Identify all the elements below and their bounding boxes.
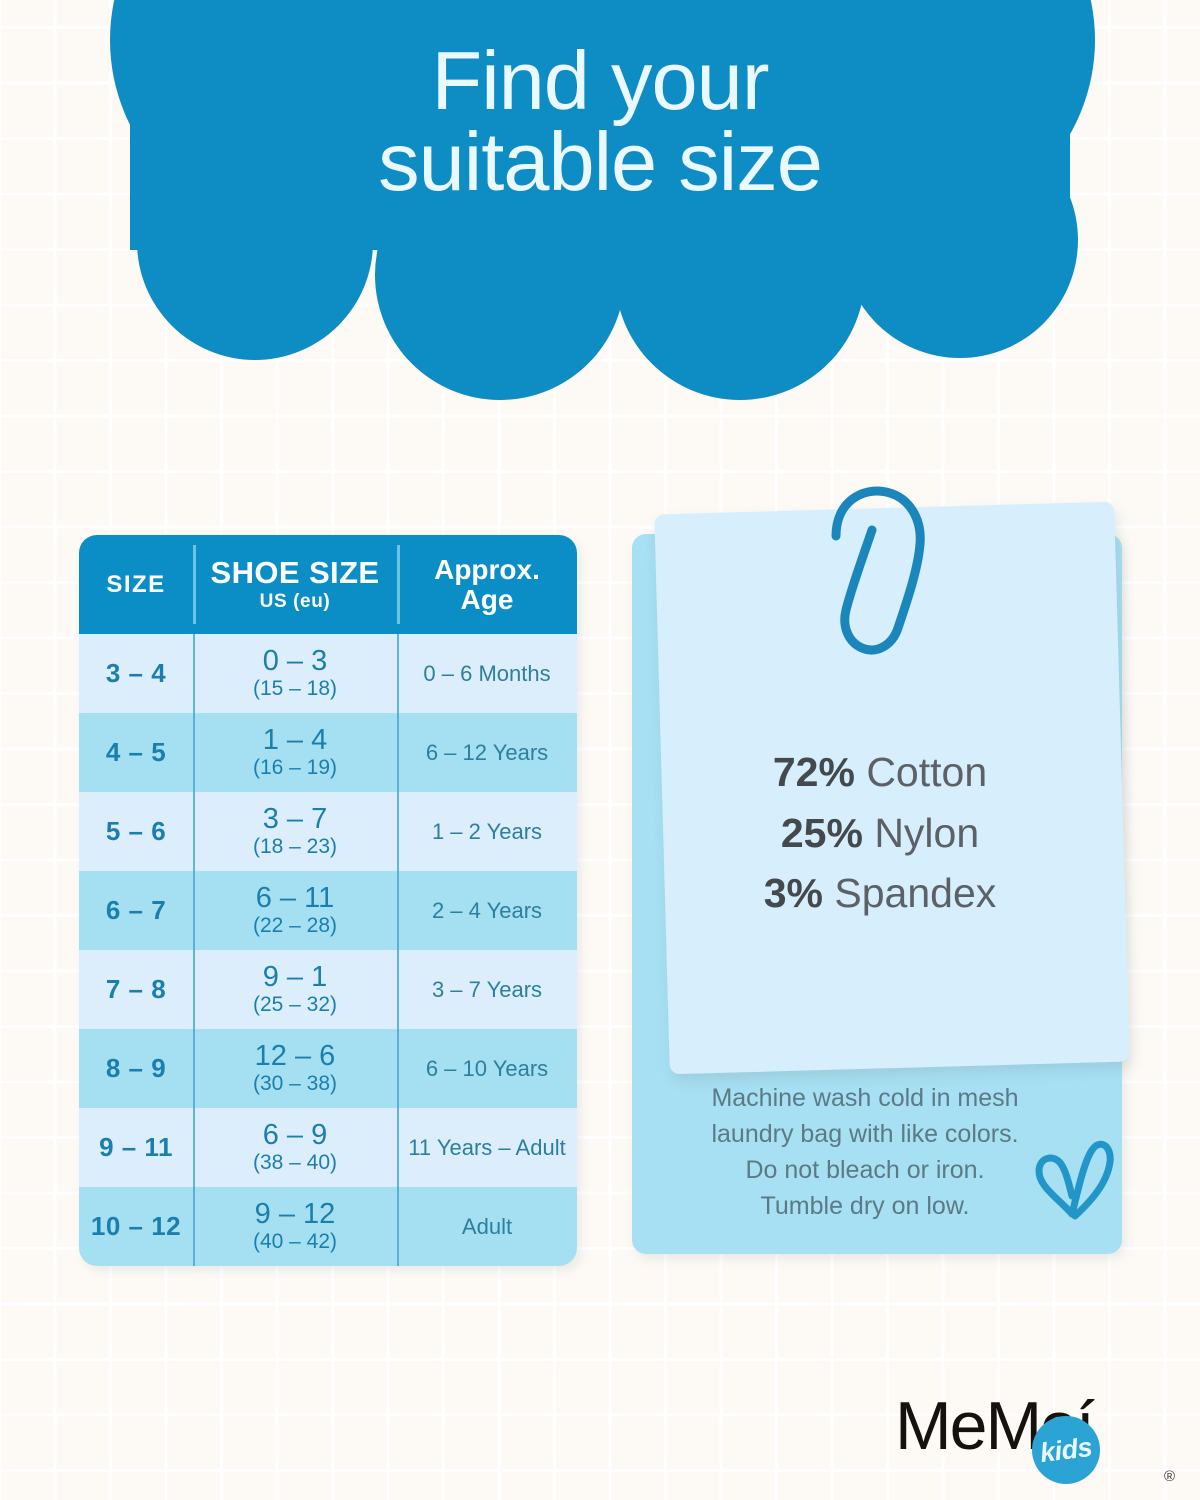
table-body: 3 – 40 – 3(15 – 18)0 – 6 Months4 – 51 – …: [79, 634, 577, 1266]
table-row: 8 – 912 – 6(30 – 38)6 – 10 Years: [79, 1029, 577, 1108]
row-column-divider-2: [397, 713, 399, 792]
table-header-row: SIZE SHOE SIZE US (eu) Approx. Age: [79, 535, 577, 634]
cell-approx-age-value: 6 – 10 Years: [426, 1056, 548, 1082]
cell-size-value: 9 – 11: [99, 1132, 173, 1163]
cell-shoe-size: 0 – 3(15 – 18): [193, 634, 397, 713]
cell-shoe-size: 6 – 11(22 – 28): [193, 871, 397, 950]
brand-logo-kids-badge: kids: [1032, 1416, 1100, 1484]
column-header-shoe-size-label: SHOE SIZE: [211, 557, 380, 588]
material-percent: 25%: [781, 810, 863, 856]
cell-size: 5 – 6: [79, 792, 193, 871]
material-percent: 72%: [773, 749, 855, 795]
row-column-divider-1: [193, 634, 195, 713]
cell-approx-age-value: 6 – 12 Years: [426, 740, 548, 766]
cell-size-value: 10 – 12: [91, 1211, 181, 1242]
cell-size-value: 5 – 6: [106, 816, 166, 847]
cell-approx-age-value: 1 – 2 Years: [432, 819, 542, 845]
brand-logo: MeMoí kids ®: [895, 1392, 1185, 1492]
cell-approx-age: 2 – 4 Years: [397, 871, 577, 950]
column-header-approx-age: Approx. Age: [397, 535, 577, 634]
size-chart-table: SIZE SHOE SIZE US (eu) Approx. Age 3 – 4…: [79, 535, 577, 1266]
column-header-size: SIZE: [79, 535, 193, 634]
row-column-divider-1: [193, 950, 195, 1029]
cell-shoe-size-eu: (16 – 19): [253, 756, 337, 780]
cell-shoe-size-us: 12 – 6: [255, 1042, 336, 1071]
row-column-divider-2: [397, 1029, 399, 1108]
material-line: 72% Cotton: [620, 742, 1140, 803]
page-title: Find your suitable size: [0, 40, 1200, 203]
cell-size: 6 – 7: [79, 871, 193, 950]
row-column-divider-2: [397, 1108, 399, 1187]
note-panel: 72% Cotton25% Nylon3% Spandex Machine wa…: [620, 500, 1140, 1280]
row-column-divider-1: [193, 1187, 195, 1266]
table-row: 3 – 40 – 3(15 – 18)0 – 6 Months: [79, 634, 577, 713]
row-column-divider-2: [397, 950, 399, 1029]
cell-approx-age: 0 – 6 Months: [397, 634, 577, 713]
table-row: 5 – 63 – 7(18 – 23)1 – 2 Years: [79, 792, 577, 871]
header-column-divider-2: [397, 545, 400, 624]
cell-shoe-size: 3 – 7(18 – 23): [193, 792, 397, 871]
cell-shoe-size-us: 3 – 7: [263, 805, 328, 834]
cell-shoe-size-eu: (18 – 23): [253, 835, 337, 859]
cell-size-value: 7 – 8: [106, 974, 166, 1005]
cell-size: 8 – 9: [79, 1029, 193, 1108]
column-header-size-label: SIZE: [106, 571, 165, 599]
registered-trademark-symbol: ®: [1164, 1468, 1175, 1485]
row-column-divider-1: [193, 871, 195, 950]
heart-doodle-icon: [1028, 1132, 1118, 1227]
cell-approx-age: 3 – 7 Years: [397, 950, 577, 1029]
cell-approx-age: 6 – 10 Years: [397, 1029, 577, 1108]
cell-shoe-size-eu: (22 – 28): [253, 914, 337, 938]
brand-logo-kids-label: kids: [1038, 1431, 1093, 1468]
cell-size: 3 – 4: [79, 634, 193, 713]
cell-size-value: 6 – 7: [106, 895, 166, 926]
cell-size: 10 – 12: [79, 1187, 193, 1266]
column-header-approx-age-label: Approx. Age: [434, 555, 540, 614]
cell-shoe-size-eu: (38 – 40): [253, 1151, 337, 1175]
cell-approx-age-value: 0 – 6 Months: [423, 661, 550, 687]
column-header-shoe-size-unit: US (eu): [260, 591, 331, 613]
header-column-divider-1: [193, 545, 196, 624]
cell-shoe-size: 6 – 9(38 – 40): [193, 1108, 397, 1187]
material-name: Spandex: [834, 870, 996, 916]
table-row: 7 – 89 – 1(25 – 32)3 – 7 Years: [79, 950, 577, 1029]
cell-approx-age: 11 Years – Adult: [397, 1108, 577, 1187]
material-name: Nylon: [874, 810, 979, 856]
cell-approx-age-value: 2 – 4 Years: [432, 898, 542, 924]
cell-shoe-size-us: 1 – 4: [263, 726, 328, 755]
cell-shoe-size: 1 – 4(16 – 19): [193, 713, 397, 792]
row-column-divider-1: [193, 792, 195, 871]
cell-shoe-size-us: 6 – 11: [256, 884, 334, 913]
row-column-divider-1: [193, 1029, 195, 1108]
column-header-shoe-size: SHOE SIZE US (eu): [193, 535, 397, 634]
cell-approx-age: Adult: [397, 1187, 577, 1266]
cell-approx-age: 6 – 12 Years: [397, 713, 577, 792]
cell-shoe-size-eu: (30 – 38): [253, 1072, 337, 1096]
material-percent: 3%: [764, 870, 823, 916]
row-column-divider-1: [193, 713, 195, 792]
cell-shoe-size: 9 – 12(40 – 42): [193, 1187, 397, 1266]
cell-approx-age: 1 – 2 Years: [397, 792, 577, 871]
cell-shoe-size-us: 0 – 3: [263, 647, 328, 676]
cell-approx-age-value: 11 Years – Adult: [408, 1135, 565, 1161]
row-column-divider-2: [397, 792, 399, 871]
cell-size: 4 – 5: [79, 713, 193, 792]
row-column-divider-2: [397, 871, 399, 950]
row-column-divider-1: [193, 1108, 195, 1187]
table-row: 9 – 116 – 9(38 – 40)11 Years – Adult: [79, 1108, 577, 1187]
material-line: 3% Spandex: [620, 863, 1140, 924]
cell-approx-age-value: 3 – 7 Years: [432, 977, 542, 1003]
row-column-divider-2: [397, 1187, 399, 1266]
row-column-divider-2: [397, 634, 399, 713]
care-instructions-text: Machine wash cold in mesh laundry bag wi…: [644, 1080, 1086, 1224]
cell-shoe-size-us: 9 – 1: [263, 963, 328, 992]
cell-size: 9 – 11: [79, 1108, 193, 1187]
material-line: 25% Nylon: [620, 803, 1140, 864]
cell-shoe-size-us: 6 – 9: [263, 1121, 328, 1150]
cell-shoe-size: 12 – 6(30 – 38): [193, 1029, 397, 1108]
cell-shoe-size-eu: (15 – 18): [253, 677, 337, 701]
cell-size: 7 – 8: [79, 950, 193, 1029]
cell-size-value: 3 – 4: [106, 658, 166, 689]
table-row: 4 – 51 – 4(16 – 19)6 – 12 Years: [79, 713, 577, 792]
material-name: Cotton: [866, 749, 987, 795]
table-row: 10 – 129 – 12(40 – 42)Adult: [79, 1187, 577, 1266]
cell-size-value: 4 – 5: [106, 737, 166, 768]
cell-shoe-size: 9 – 1(25 – 32): [193, 950, 397, 1029]
cell-approx-age-value: Adult: [462, 1214, 512, 1240]
table-row: 6 – 76 – 11(22 – 28)2 – 4 Years: [79, 871, 577, 950]
cell-shoe-size-eu: (25 – 32): [253, 993, 337, 1017]
cell-shoe-size-eu: (40 – 42): [253, 1230, 337, 1254]
cell-shoe-size-us: 9 – 12: [255, 1200, 336, 1229]
cell-size-value: 8 – 9: [106, 1053, 166, 1084]
paperclip-icon: [810, 478, 940, 658]
material-composition-list: 72% Cotton25% Nylon3% Spandex: [620, 742, 1140, 924]
